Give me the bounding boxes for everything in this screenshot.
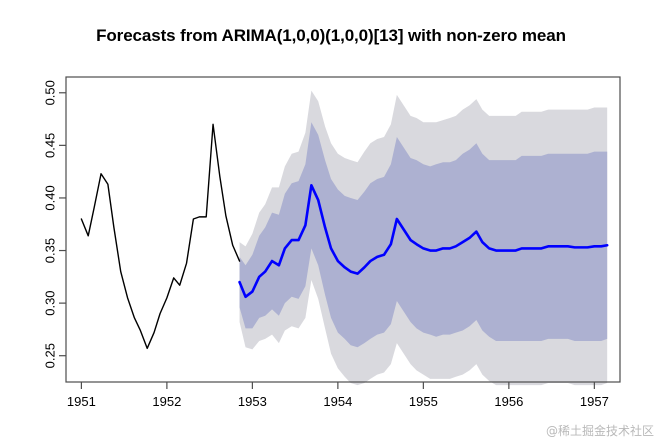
x-axis-tick-label: 1956 (494, 394, 523, 409)
y-axis-tick-label: 0.35 (43, 238, 58, 263)
x-axis-tick-label: 1957 (580, 394, 609, 409)
y-axis-tick-label: 0.25 (43, 343, 58, 368)
y-axis-tick-label: 0.45 (43, 133, 58, 158)
x-axis-tick-label: 1952 (152, 394, 181, 409)
forecast-chart-figure: Forecasts from ARIMA(1,0,0)(1,0,0)[13] w… (0, 0, 662, 444)
y-axis-tick-label: 0.30 (43, 290, 58, 315)
x-axis-tick-label: 1954 (323, 394, 352, 409)
y-axis: 0.250.300.350.400.450.50 (43, 80, 67, 368)
plot-area: 1951195219531954195519561957 0.250.300.3… (0, 0, 662, 444)
x-axis-tick-label: 1953 (238, 394, 267, 409)
watermark-text: @稀土掘金技术社区 (546, 422, 654, 439)
y-axis-tick-label: 0.50 (43, 80, 58, 105)
x-axis-tick-label: 1951 (67, 394, 96, 409)
x-axis: 1951195219531954195519561957 (67, 382, 609, 409)
historical-series-line (81, 124, 239, 348)
y-axis-tick-label: 0.40 (43, 185, 58, 210)
x-axis-tick-label: 1955 (409, 394, 438, 409)
